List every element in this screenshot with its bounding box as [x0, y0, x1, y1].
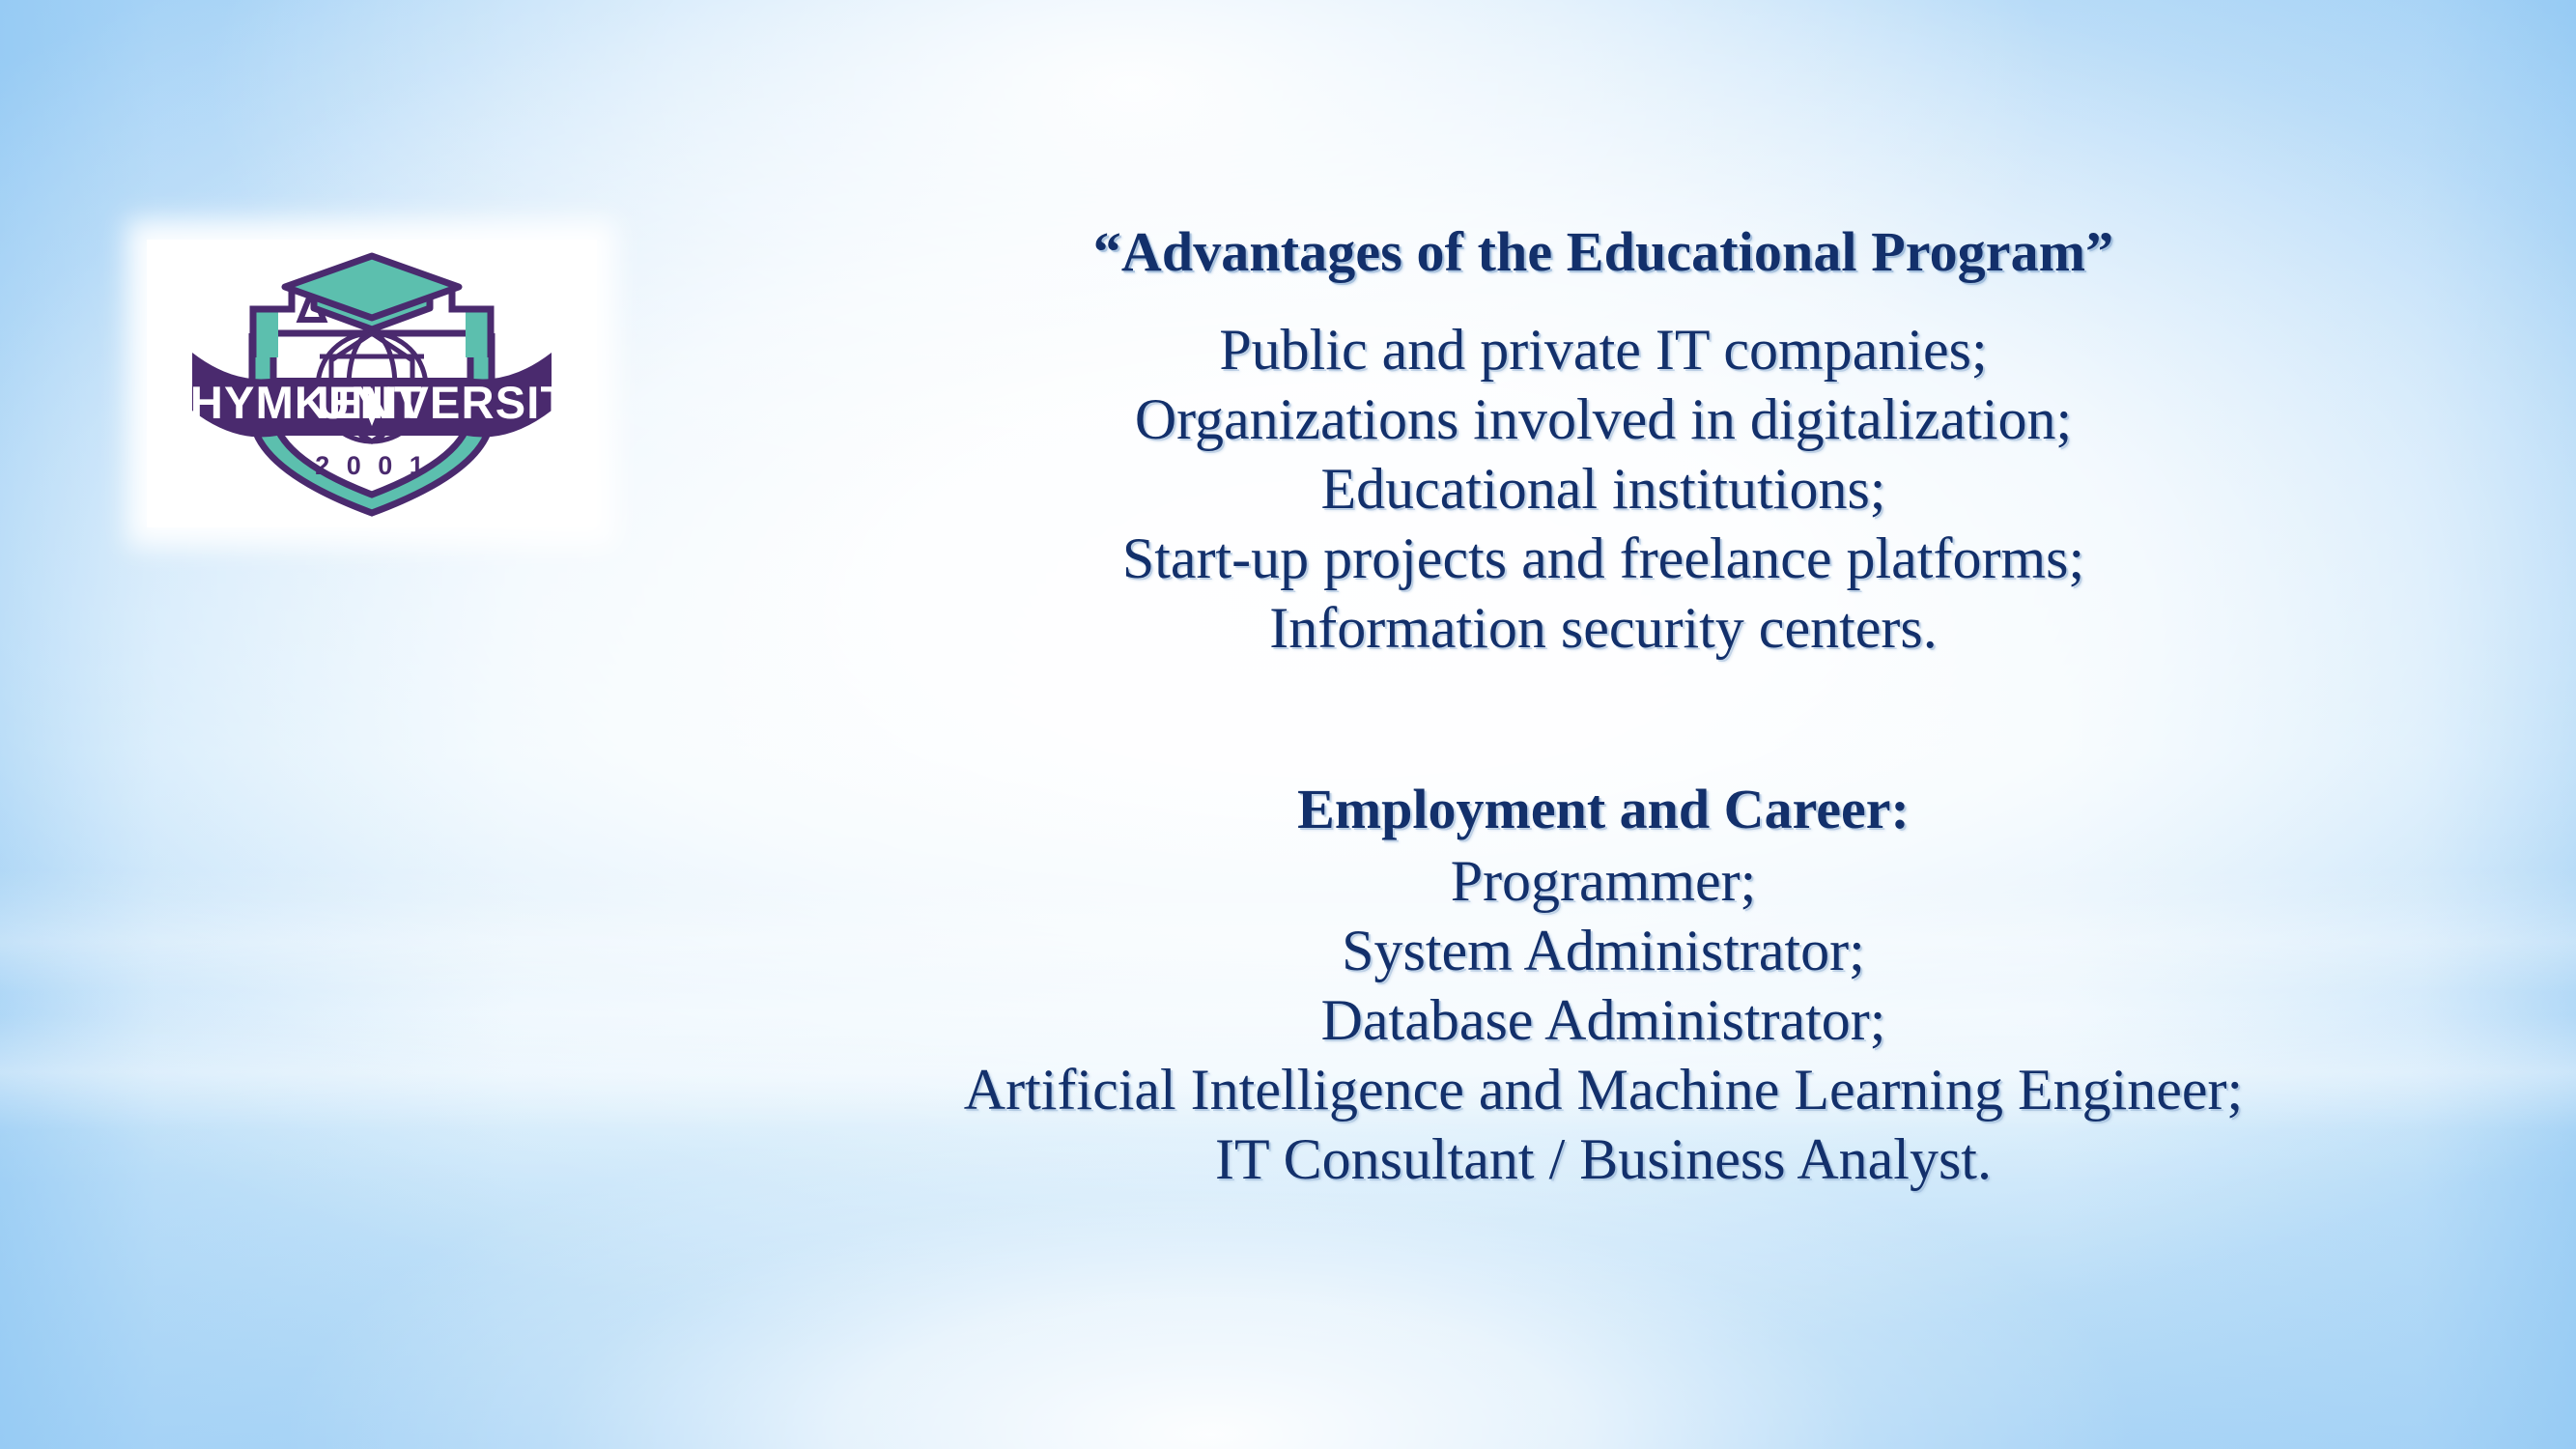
slide-canvas: SHYMKENT UNIVERSITY 2 0 0 1 “Advantages … — [0, 0, 2576, 1449]
skyline-block-left-teal — [253, 309, 278, 357]
advantages-line: Public and private IT companies; — [811, 315, 2395, 384]
skyline-block-right-teal — [466, 309, 491, 357]
advantages-line: Educational institutions; — [811, 454, 2395, 524]
slide-content: “Advantages of the Educational Program” … — [811, 0, 2395, 1449]
advantages-line: Organizations involved in digitalization… — [811, 384, 2395, 454]
advantages-list: Public and private IT companies; Organiz… — [811, 315, 2395, 663]
career-line: Artificial Intelligence and Machine Lear… — [811, 1055, 2395, 1124]
shymkent-university-logo-icon: SHYMKENT UNIVERSITY 2 0 0 1 — [177, 244, 567, 523]
advantages-line: Start-up projects and freelance platform… — [811, 524, 2395, 593]
university-logo-card: SHYMKENT UNIVERSITY 2 0 0 1 — [147, 240, 597, 527]
career-list: Employment and Career: Programmer; Syste… — [811, 773, 2395, 1194]
banner-text-right: UNIVERSITY — [317, 377, 567, 428]
advantages-line: Information security centers. — [811, 593, 2395, 663]
career-line: System Administrator; — [811, 916, 2395, 985]
career-line: IT Consultant / Business Analyst. — [811, 1124, 2395, 1194]
career-line: Programmer; — [811, 846, 2395, 916]
logo-year-text: 2 0 0 1 — [315, 451, 429, 480]
career-heading: Employment and Career: — [811, 773, 2395, 846]
slide-title: “Advantages of the Educational Program” — [811, 224, 2395, 280]
career-line: Database Administrator; — [811, 985, 2395, 1055]
